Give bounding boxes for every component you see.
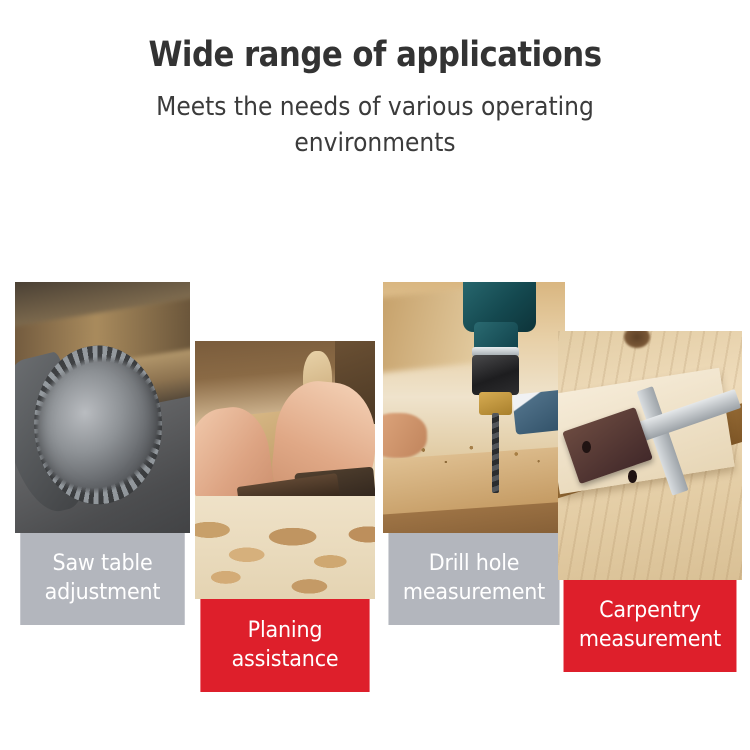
caption-line-1: Planing bbox=[248, 617, 323, 646]
caption-line-2: adjustment bbox=[45, 579, 161, 608]
caption-line-1: Carpentry bbox=[599, 597, 701, 626]
page-subtitle: Meets the needs of various operating env… bbox=[87, 75, 663, 163]
caption-line-2: measurement bbox=[403, 579, 545, 608]
application-caption-carpentry: Carpentry measurement bbox=[564, 580, 737, 672]
application-photo-drill-hole bbox=[383, 282, 565, 533]
application-card-carpentry[interactable]: Carpentry measurement bbox=[558, 331, 742, 672]
caption-line-2: measurement bbox=[579, 626, 721, 655]
application-card-drill-hole[interactable]: Drill hole measurement bbox=[383, 282, 565, 625]
application-card-saw-table[interactable]: Saw table adjustment bbox=[15, 282, 190, 625]
application-photo-carpentry bbox=[558, 331, 742, 580]
caption-line-1: Saw table bbox=[53, 550, 153, 579]
application-caption-planing: Planing assistance bbox=[200, 599, 369, 692]
application-photo-planing bbox=[195, 341, 375, 599]
page-title: Wide range of applications bbox=[45, 0, 705, 75]
caption-line-2: assistance bbox=[232, 646, 339, 675]
application-card-planing[interactable]: Planing assistance bbox=[195, 341, 375, 692]
application-caption-saw-table: Saw table adjustment bbox=[20, 533, 185, 625]
caption-line-1: Drill hole bbox=[429, 550, 520, 579]
application-caption-drill-hole: Drill hole measurement bbox=[388, 533, 559, 625]
header-block: Wide range of applications Meets the nee… bbox=[0, 0, 750, 162]
application-photo-saw-table bbox=[15, 282, 190, 533]
